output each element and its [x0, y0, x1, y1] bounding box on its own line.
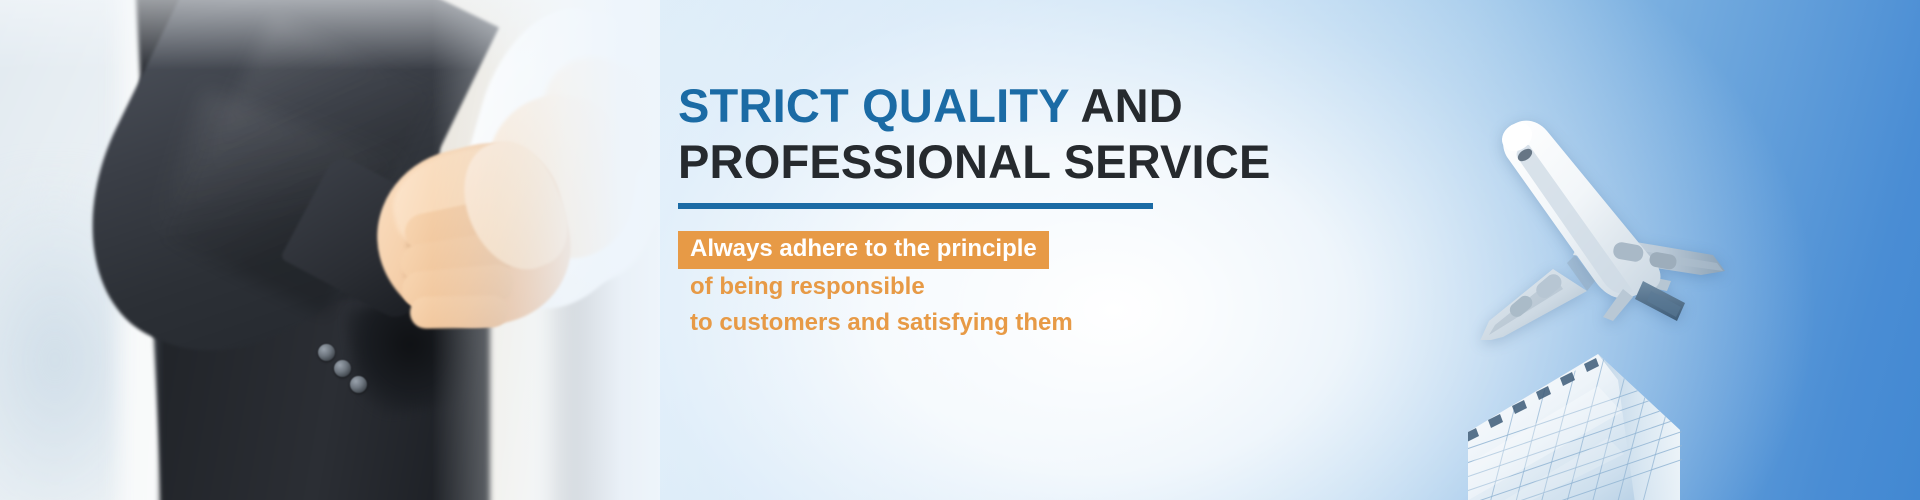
tagline-highlight: Always adhere to the principle — [678, 231, 1049, 269]
airplane-icon — [1455, 105, 1785, 340]
suit-cuff-button — [350, 376, 367, 393]
suit-cuff-button — [318, 344, 335, 361]
banner-text-block: STRICT QUALITY AND PROFESSIONAL SERVICE … — [678, 78, 1298, 341]
photo-right-fade — [432, 0, 660, 500]
handshake-photo — [0, 0, 660, 500]
tagline-line-3: to customers and satisfying them — [678, 305, 1298, 341]
headline: STRICT QUALITY AND PROFESSIONAL SERVICE — [678, 78, 1298, 190]
headline-line-1: STRICT QUALITY AND — [678, 78, 1298, 134]
suit-cuff-button — [334, 360, 351, 377]
headline-rest-text: AND — [1069, 79, 1183, 132]
tagline-highlight-row: Always adhere to the principle — [678, 231, 1298, 269]
tagline: Always adhere to the principle of being … — [678, 231, 1298, 341]
headline-accent-text: STRICT QUALITY — [678, 79, 1069, 132]
headline-divider — [678, 203, 1153, 209]
promo-banner: STRICT QUALITY AND PROFESSIONAL SERVICE … — [0, 0, 1920, 500]
skyscraper-icon — [1468, 320, 1920, 500]
tagline-line-2: of being responsible — [678, 269, 1298, 305]
headline-line-2: PROFESSIONAL SERVICE — [678, 134, 1298, 190]
